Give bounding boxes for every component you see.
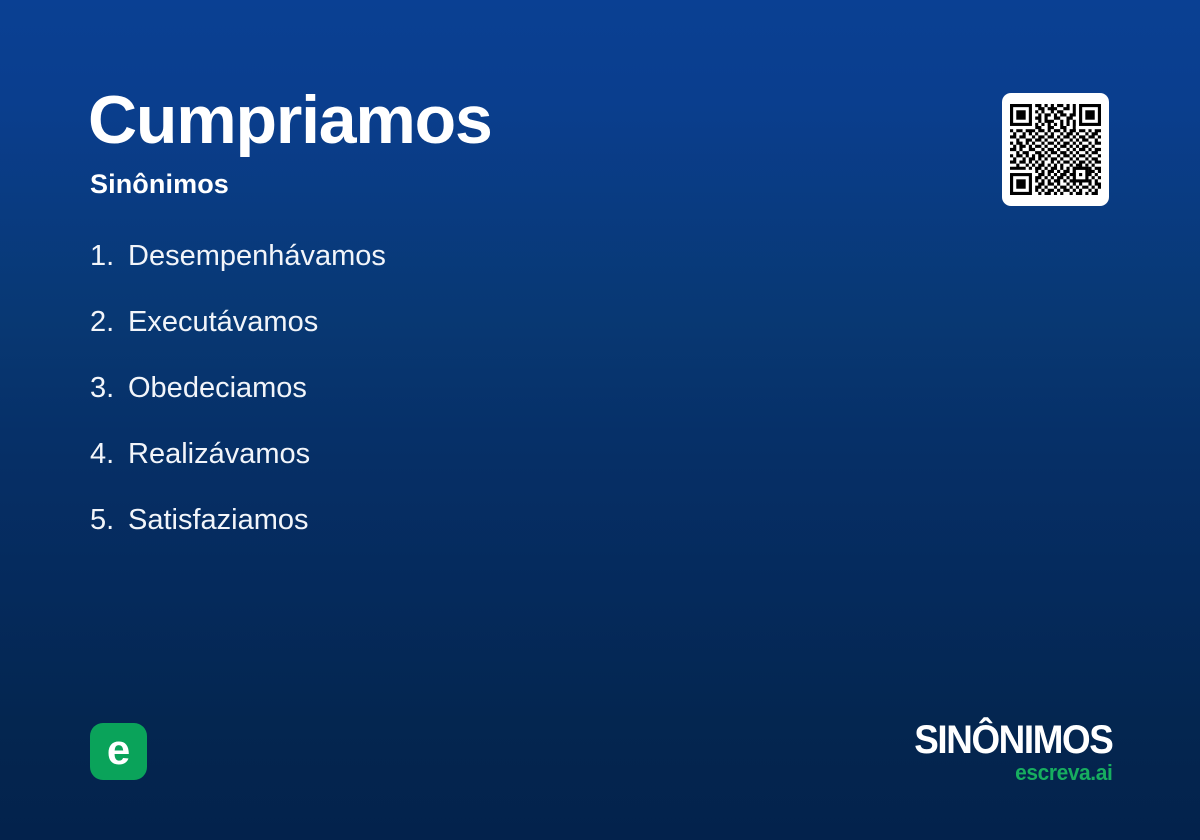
synonym-index: 4. — [90, 434, 128, 474]
synonym-item: 4.Realizávamos — [90, 434, 910, 500]
synonym-index: 1. — [90, 236, 128, 276]
e-logo-letter: e — [90, 723, 147, 780]
page-subtitle: Sinônimos — [90, 167, 229, 201]
qr-code-icon — [1010, 104, 1101, 195]
synonym-list: 1.Desempenhávamos2.Executávamos3.Obedeci… — [90, 236, 910, 566]
synonym-item: 1.Desempenhávamos — [90, 236, 910, 302]
synonym-index: 5. — [90, 500, 128, 540]
synonym-item: 5.Satisfaziamos — [90, 500, 910, 566]
synonym-word: Obedeciamos — [128, 368, 307, 408]
brand-domain: escreva.ai — [907, 761, 1112, 785]
page-title: Cumpriamos — [88, 82, 492, 158]
brand-wordmark: SINÔNIMOS escreva.ai — [897, 720, 1112, 785]
synonym-index: 3. — [90, 368, 128, 408]
brand-name: SINÔNIMOS — [914, 720, 1112, 760]
synonym-word: Realizávamos — [128, 434, 310, 474]
synonym-word: Desempenhávamos — [128, 236, 386, 276]
synonym-word: Executávamos — [128, 302, 318, 342]
synonym-word: Satisfaziamos — [128, 500, 309, 540]
synonym-item: 2.Executávamos — [90, 302, 910, 368]
synonym-index: 2. — [90, 302, 128, 342]
synonym-item: 3.Obedeciamos — [90, 368, 910, 434]
escreva-e-logo-icon[interactable]: e — [90, 723, 147, 780]
qr-code-panel[interactable] — [1002, 93, 1109, 206]
synonym-card: Cumpriamos Sinônimos 1.Desempenhávamos2.… — [0, 0, 1200, 840]
